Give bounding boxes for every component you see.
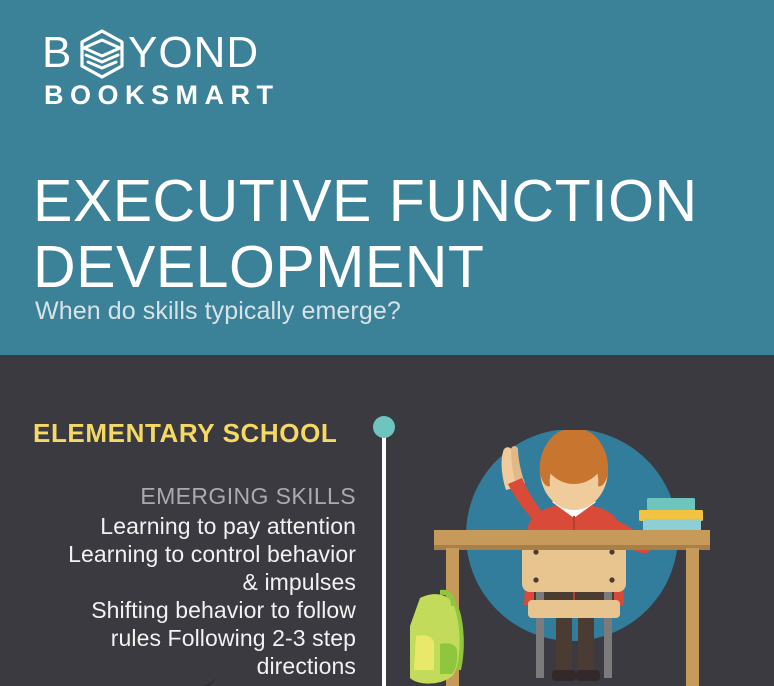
emerging-skills-block: EMERGING SKILLS Learning to pay attentio…: [10, 482, 356, 680]
student-raising-hand-illustration: [410, 430, 774, 686]
logo-letters-yond: YOND: [128, 30, 259, 76]
logo-mark-row: B YOND: [42, 30, 372, 76]
decorative-swoosh-icon: [140, 655, 290, 686]
school-chair-icon: [522, 540, 626, 678]
logo-wordmark-booksmart: BOOKSMART: [44, 80, 280, 110]
page-title: EXECUTIVE FUNCTION DEVELOPMENT: [33, 168, 753, 300]
emerging-skills-label: EMERGING SKILLS: [10, 482, 356, 511]
stack-of-books-icon: [639, 498, 703, 531]
brand-logo[interactable]: B YOND BOOKSMART: [42, 30, 472, 110]
infographic-root: B YOND BOOKSMART EXECUTIVE FUNCTION DEVE…: [0, 0, 774, 686]
header-band: B YOND BOOKSMART EXECUTIVE FUNCTION DEVE…: [0, 0, 774, 355]
timeline-dot-icon: [373, 416, 395, 438]
section-heading-elementary-school: ELEMENTARY SCHOOL: [33, 418, 337, 448]
page-subtitle: When do skills typically emerge?: [35, 294, 401, 328]
timeline-line: [382, 427, 386, 686]
logo-letter-b: B: [42, 30, 72, 76]
hexagon-stacked-books-icon: [76, 28, 128, 80]
green-backpack-icon: [410, 590, 464, 684]
body-section: ELEMENTARY SCHOOL EMERGING SKILLS Learni…: [0, 355, 774, 686]
